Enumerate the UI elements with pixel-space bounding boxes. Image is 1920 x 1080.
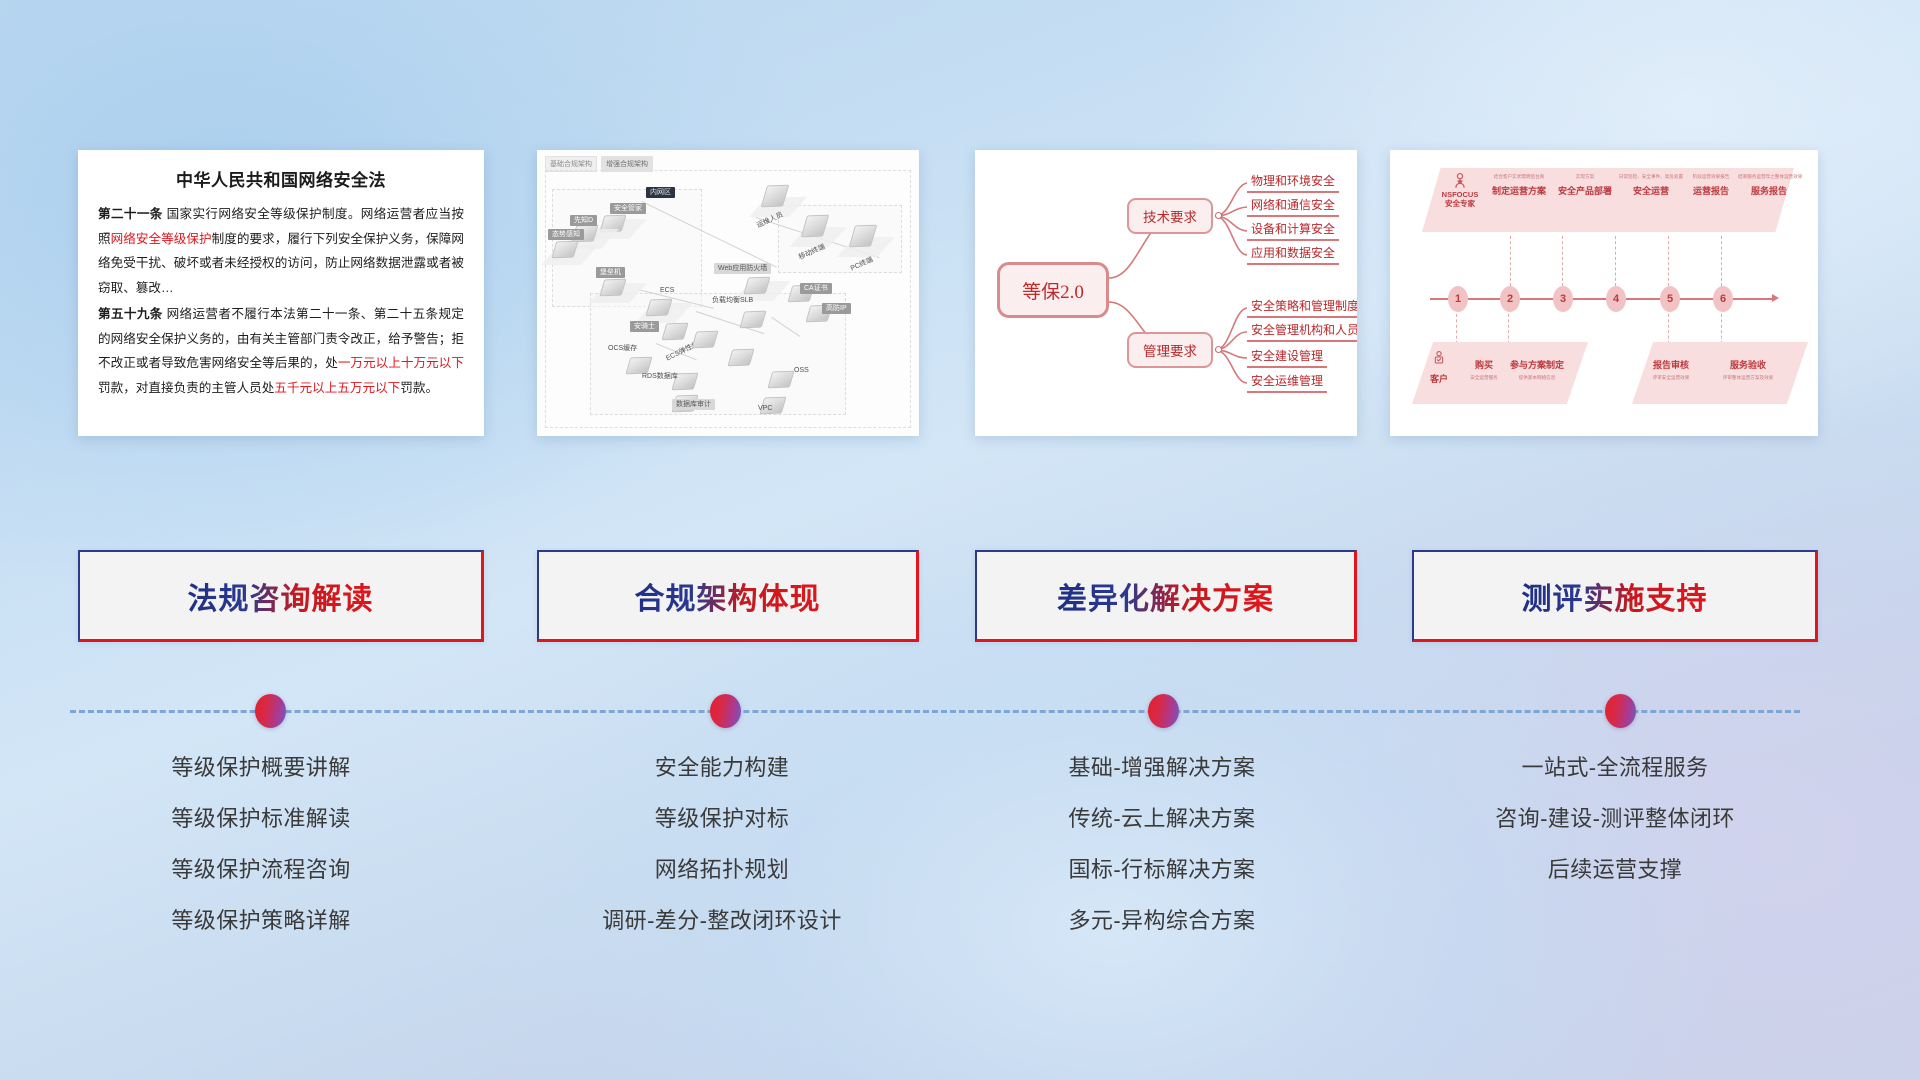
arch-node-anqishi: 安骑士: [630, 321, 659, 332]
preview-card-row: 中华人民共和国网络安全法 第二十一条 国家实行网络安全等级保护制度。网络运营者应…: [0, 150, 1920, 440]
roadmap-tick: [1668, 236, 1669, 286]
tray-cell-main: 购买: [1462, 358, 1506, 371]
mindmap-leaf: 安全管理机构和人员: [1247, 321, 1357, 342]
roadmap-tick: [1615, 236, 1616, 286]
roadmap-banner-cell: 实现方案 安全产品部署: [1552, 174, 1618, 197]
roadmap-tray-cell: 参与方案制定 提供基本网络信息: [1502, 358, 1572, 381]
roadmap-tick: [1510, 236, 1511, 286]
arch-node-ocs-cache: OCS缓存: [604, 343, 641, 354]
timeline-dot-3[interactable]: [1148, 694, 1179, 728]
roadmap-tick: [1562, 236, 1563, 286]
roadmap-cell-sub: 实现方案: [1552, 174, 1618, 179]
mindmap-root: 等保2.0: [997, 262, 1109, 318]
arch-node-rds: RDS数据库: [638, 371, 682, 382]
section-header-regulation-consulting[interactable]: 法规咨询解读: [78, 550, 484, 642]
roadmap-tray-cell: 购买 安全运营服务: [1462, 358, 1506, 381]
list-item: 等级保护概要讲解: [96, 742, 426, 793]
mindmap-leaf: 应用和数据安全: [1247, 244, 1339, 265]
roadmap-arrow-icon: [1772, 294, 1779, 302]
roadmap-customer: 客户: [1418, 350, 1460, 385]
section-header-label: 合规架构体现: [635, 574, 821, 618]
list-item: 一站式-全流程服务: [1410, 742, 1820, 793]
service-list-differentiated-solutions: 基础-增强解决方案 传统-云上解决方案 国标-行标解决方案 多元-异构综合方案: [962, 742, 1362, 946]
mindmap-branch-technical: 技术要求: [1127, 198, 1213, 234]
roadmap-tick: [1456, 314, 1457, 344]
roadmap-banner-cell: 阶段运营效果报告 运营报告: [1680, 174, 1742, 197]
roadmap: NSFOCUS 安全专家 结合客户实状需明后台真 制定运营方案 实现方案 安全产…: [1390, 150, 1818, 436]
article-59-text-b: 罚款，对直接负责的主管人员处: [98, 381, 274, 395]
mindmap-leaf: 安全策略和管理制度: [1247, 297, 1357, 318]
architecture-diagram: 基础合规架构 增强合规架构 内网区 安全管家: [537, 150, 919, 436]
timeline: [0, 694, 1920, 728]
roadmap-tick: [1721, 236, 1722, 286]
arch-node-oss: OSS: [790, 365, 813, 376]
roadmap-cell-sub: 日常巡检、安全事件、高危处置: [1618, 174, 1684, 179]
tray-cell-main: 服务验收: [1710, 358, 1786, 371]
list-item: 多元-异构综合方案: [962, 895, 1362, 946]
tray-cell-sub: 提供基本网络信息: [1502, 375, 1572, 381]
list-item: 等级保护标准解读: [96, 793, 426, 844]
mindmap-leaf: 网络和通信安全: [1247, 196, 1339, 217]
law-article-59: 第五十九条 网络运营者不履行本法第二十一条、第二十五条规定的网络安全保护义务的，…: [98, 302, 464, 400]
law-article-21: 第二十一条 国家实行网络安全等级保护制度。网络运营者应当按照网络安全等级保护制度…: [98, 202, 464, 300]
service-lists: 等级保护概要讲解 等级保护标准解读 等级保护流程咨询 等级保护策略详解 安全能力…: [0, 742, 1920, 972]
list-item: 后续运营支撑: [1410, 844, 1820, 895]
arch-node-security-steward: 安全管家: [610, 203, 646, 214]
roadmap-step-2: 2: [1500, 286, 1520, 312]
customer-person-icon: [1431, 350, 1447, 368]
article-59-highlight-1: 一万元以上十万元以下: [338, 356, 464, 370]
mindmap-collapse-icon[interactable]: [1215, 212, 1222, 219]
roadmap-tick: [1721, 314, 1722, 344]
roadmap-cell-sub: 阶段运营效果报告: [1680, 174, 1742, 179]
article-21-highlight: 网络安全等级保护: [111, 232, 212, 246]
arch-node-intranet: 内网区: [646, 187, 675, 198]
arch-node-anti-ddos: 高防IP: [822, 303, 851, 314]
arch-node-waf: Web应用防火墙: [714, 263, 771, 274]
list-item: 传统-云上解决方案: [962, 793, 1362, 844]
mindmap-leaf: 安全建设管理: [1247, 347, 1327, 368]
card-compliance-architecture: 基础合规架构 增强合规架构 内网区 安全管家: [537, 150, 919, 436]
list-item: 等级保护对标: [522, 793, 922, 844]
roadmap-tray-cell: 报告审核 评审安全运营效果: [1638, 358, 1704, 381]
mindmap-leaf: 设备和计算安全: [1247, 220, 1339, 241]
roadmap-step-3: 3: [1553, 286, 1573, 312]
roadmap-banner-cell: 日常巡检、安全事件、高危处置 安全运营: [1618, 174, 1684, 197]
section-header-differentiated-solutions[interactable]: 差异化解决方案: [975, 550, 1357, 642]
roadmap-tray-cell: 服务验收 评审整体运营方案及效果: [1710, 358, 1786, 381]
list-item: 等级保护策略详解: [96, 895, 426, 946]
roadmap-cell-sub: 结合客户实状需明后台真: [1486, 174, 1552, 179]
roadmap-cell-main: 制定运营方案: [1486, 184, 1552, 197]
law-title: 中华人民共和国网络安全法: [98, 166, 464, 191]
arch-node-db-audit: 数据库审计: [672, 399, 715, 410]
service-list-regulation-consulting: 等级保护概要讲解 等级保护标准解读 等级保护流程咨询 等级保护策略详解: [96, 742, 426, 946]
roadmap-tick: [1508, 314, 1509, 344]
roadmap-cell-main: 安全产品部署: [1552, 184, 1618, 197]
roadmap-step-6: 6: [1713, 286, 1733, 312]
list-item: 安全能力构建: [522, 742, 922, 793]
tray-cell-sub: 安全运营服务: [1462, 375, 1506, 381]
list-item: 咨询-建设-测评整体闭环: [1410, 793, 1820, 844]
roadmap-banner-cell: 结合客户实状需明后台真 制定运营方案: [1486, 174, 1552, 197]
roadmap-tick: [1668, 314, 1669, 344]
section-header-assessment-support[interactable]: 测评实施支持: [1412, 550, 1818, 642]
section-header-label: 差异化解决方案: [1057, 574, 1274, 618]
arch-node-bastion: 堡垒机: [596, 267, 625, 278]
roadmap-cell-sub: 结束服务运营年之整体运营效果: [1738, 174, 1800, 179]
article-21-label: 第二十一条: [98, 207, 163, 221]
tray-cell-main: 参与方案制定: [1502, 358, 1572, 371]
article-59-highlight-2: 五千元以上五万元以下: [274, 381, 400, 395]
arch-node-vpc: VPC: [754, 403, 776, 414]
section-header-label: 法规咨询解读: [188, 574, 374, 618]
card-dengbao-mindmap: 等保2.0 技术要求 物理和环境安全 网络和通信安全 设备和计算安全 应用和数据…: [975, 150, 1357, 436]
timeline-dot-1[interactable]: [255, 694, 286, 728]
tray-cell-sub: 评审整体运营方案及效果: [1710, 375, 1786, 381]
article-59-label: 第五十九条: [98, 307, 163, 321]
section-header-row: 法规咨询解读 合规架构体现 差异化解决方案 测评实施支持: [0, 550, 1920, 642]
arch-node-ecs: ECS: [656, 285, 678, 296]
section-header-compliance-architecture[interactable]: 合规架构体现: [537, 550, 919, 642]
expert-person-icon: [1451, 172, 1469, 190]
mindmap-branch-management: 管理要求: [1127, 332, 1213, 368]
roadmap-cell-main: 运营报告: [1680, 184, 1742, 197]
card-cybersecurity-law: 中华人民共和国网络安全法 第二十一条 国家实行网络安全等级保护制度。网络运营者应…: [78, 150, 484, 436]
timeline-dot-4[interactable]: [1605, 694, 1636, 728]
list-item: 调研-差分-整改闭环设计: [522, 895, 922, 946]
roadmap-step-5: 5: [1660, 286, 1680, 312]
arch-node-ca-cert: CA证书: [800, 283, 832, 294]
mindmap-leaf: 安全运维管理: [1247, 372, 1327, 393]
roadmap-cell-main: 安全运营: [1618, 184, 1684, 197]
service-list-assessment-support: 一站式-全流程服务 咨询-建设-测评整体闭环 后续运营支撑: [1410, 742, 1820, 895]
timeline-dashed-line: [70, 710, 1800, 713]
article-59-text-c: 罚款。: [400, 381, 438, 395]
tray-cell-sub: 评审安全运营效果: [1638, 375, 1704, 381]
tray-cell-main: 报告审核: [1638, 358, 1704, 371]
roadmap-expert-line1: NSFOCUS: [1434, 190, 1486, 199]
arch-node-slb: 负载均衡SLB: [708, 295, 757, 306]
list-item: 国标-行标解决方案: [962, 844, 1362, 895]
roadmap-customer-label: 客户: [1418, 372, 1460, 385]
service-list-compliance-architecture: 安全能力构建 等级保护对标 网络拓扑规划 调研-差分-整改闭环设计: [522, 742, 922, 946]
mindmap-leaf: 物理和环境安全: [1247, 172, 1339, 193]
list-item: 基础-增强解决方案: [962, 742, 1362, 793]
architecture-frame: 内网区 安全管家 先知D 态势感知 堡垒机 运维人员 移动终端: [545, 170, 911, 428]
roadmap-step-1: 1: [1448, 286, 1468, 312]
mindmap-collapse-icon[interactable]: [1215, 346, 1222, 353]
roadmap-cell-main: 服务报告: [1738, 184, 1800, 197]
arch-node-situation-awareness: 态势感知: [548, 229, 584, 240]
roadmap-banner-cell: 结束服务运营年之整体运营效果 服务报告: [1738, 174, 1800, 197]
list-item: 网络拓扑规划: [522, 844, 922, 895]
roadmap-expert-line2: 安全专家: [1434, 199, 1486, 208]
arch-node-xianzhi: 先知D: [570, 215, 597, 226]
roadmap-expert: NSFOCUS 安全专家: [1434, 172, 1486, 209]
mindmap: 等保2.0 技术要求 物理和环境安全 网络和通信安全 设备和计算安全 应用和数据…: [975, 150, 1357, 436]
card-service-roadmap: NSFOCUS 安全专家 结合客户实状需明后台真 制定运营方案 实现方案 安全产…: [1390, 150, 1818, 436]
section-header-label: 测评实施支持: [1522, 574, 1708, 618]
roadmap-step-4: 4: [1606, 286, 1626, 312]
timeline-dot-2[interactable]: [710, 694, 741, 728]
list-item: 等级保护流程咨询: [96, 844, 426, 895]
